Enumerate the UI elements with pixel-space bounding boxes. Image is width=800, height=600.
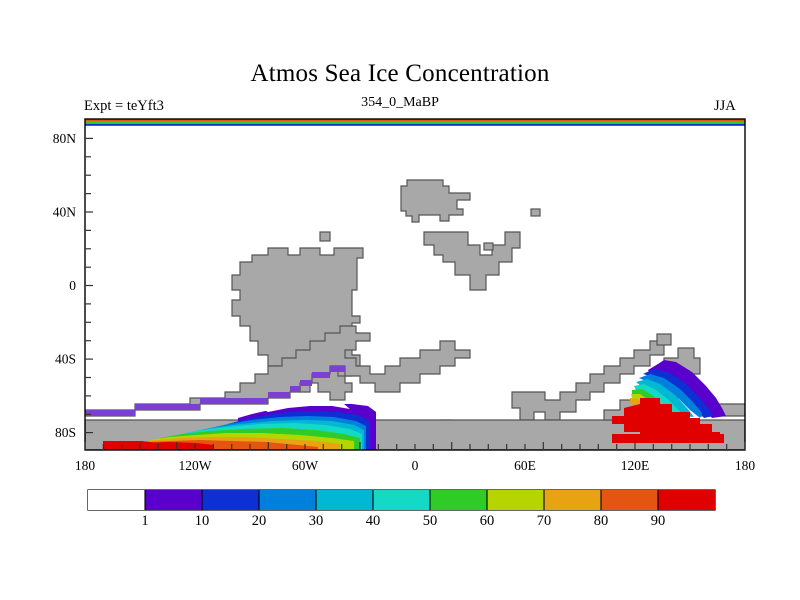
colorbar-swatch-8[interactable] <box>544 490 601 510</box>
colorbar-swatch-1[interactable] <box>145 490 202 510</box>
colorbar-tick-labels: 1 10 20 30 40 50 60 70 80 90 <box>141 513 665 529</box>
colorbar-tick-label: 60 <box>480 513 495 529</box>
colorbar-tick-label: 50 <box>423 513 438 529</box>
colorbar-tick-label: 1 <box>141 513 148 529</box>
x-tick-label: 60W <box>292 458 319 473</box>
colorbar-tick-label: 20 <box>252 513 267 529</box>
x-tick-label: 120E <box>621 458 650 473</box>
colorbar-swatch-6[interactable] <box>430 490 487 510</box>
x-tick-label: 180 <box>735 458 756 473</box>
colorbar-swatch-4[interactable] <box>316 490 373 510</box>
colorbar-tick-label: 90 <box>651 513 666 529</box>
colorbar-tick-label: 40 <box>366 513 381 529</box>
colorbar-swatch-2[interactable] <box>202 490 259 510</box>
colorbar-tick-label: 80 <box>594 513 609 529</box>
colorbar-swatch-7[interactable] <box>487 490 544 510</box>
figure-root: Atmos Sea Ice Concentration Expt = teYft… <box>0 0 800 600</box>
y-tick-label: 0 <box>69 278 76 293</box>
colorbar-swatch-10[interactable] <box>658 490 715 510</box>
colorbar-swatches[interactable] <box>88 490 715 510</box>
map-panel: 80N 40N 0 40S 80S <box>53 119 756 473</box>
x-tick-label: 180 <box>75 458 96 473</box>
colorbar-swatch-3[interactable] <box>259 490 316 510</box>
plot-canvas: 80N 40N 0 40S 80S <box>0 0 800 600</box>
y-tick-label: 80S <box>55 425 76 440</box>
colorbar-tick-label: 30 <box>309 513 324 529</box>
ice-band-north <box>85 119 745 126</box>
colorbar-swatch-0[interactable] <box>88 490 145 510</box>
colorbar-tick-label: 70 <box>537 513 552 529</box>
colorbar-tick-label: 10 <box>195 513 210 529</box>
colorbar-swatch-9[interactable] <box>601 490 658 510</box>
colorbar-swatch-5[interactable] <box>373 490 430 510</box>
x-tick-label: 0 <box>412 458 419 473</box>
y-tick-label: 40S <box>55 352 76 367</box>
x-tick-label: 60E <box>514 458 536 473</box>
y-axis-labels: 80N 40N 0 40S 80S <box>53 131 77 440</box>
x-axis-labels: 180 120W 60W 0 60E 120E 180 <box>75 458 756 473</box>
y-tick-label: 80N <box>53 131 77 146</box>
colorbar-legend[interactable]: 1 10 20 30 40 50 60 70 80 90 <box>88 490 715 529</box>
x-tick-label: 120W <box>179 458 212 473</box>
y-tick-label: 40N <box>53 205 77 220</box>
